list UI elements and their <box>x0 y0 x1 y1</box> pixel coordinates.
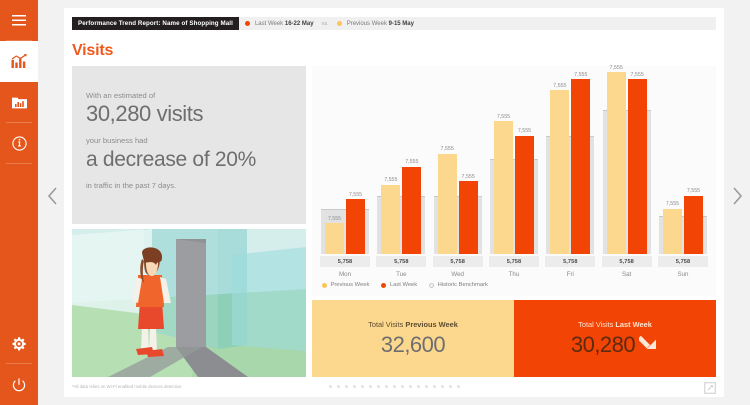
pagination-dot[interactable] <box>433 385 436 388</box>
power-icon <box>12 378 26 392</box>
bar-value-label: 7,555 <box>631 72 644 78</box>
bar-pw-fri[interactable]: 7,555 <box>550 90 569 254</box>
pagination-dot[interactable] <box>449 385 452 388</box>
pagination-dot[interactable] <box>401 385 404 388</box>
stage: Performance Trend Report: Name of Shoppi… <box>38 0 750 405</box>
bar-pw-sun[interactable]: 7,555 <box>663 209 682 255</box>
axis-cell-mon: 5,758Mon <box>320 256 370 278</box>
sidebar-spacer <box>0 164 38 323</box>
bar-lw-thu[interactable]: 7,555 <box>515 136 534 254</box>
legend-swatch-icon <box>429 283 434 288</box>
bar-pw-sat[interactable]: 7,555 <box>607 72 626 254</box>
hamburger-icon <box>12 15 26 26</box>
bar-pw-wed[interactable]: 7,555 <box>438 154 457 254</box>
axis-cell-sat: 5,758Sat <box>602 256 652 278</box>
expand-button[interactable] <box>704 381 716 399</box>
totals-row: Total Visits Previous Week 32,600 Total … <box>312 300 716 377</box>
chevron-left-icon <box>46 193 59 210</box>
sidebar-item-info[interactable] <box>0 123 38 164</box>
summary-line-5: in traffic in the past 7 days. <box>86 180 292 191</box>
bar-value-label: 7,555 <box>497 114 510 120</box>
bar-value-label: 7,555 <box>384 177 397 183</box>
bar-pair: 7,5557,555 <box>494 72 534 254</box>
sidebar-item-power[interactable] <box>0 364 38 405</box>
chart-group-wed: 7,5557,555 <box>433 72 483 254</box>
pagination-dots[interactable] <box>64 385 724 388</box>
benchmark-value: 5,758 <box>489 256 539 267</box>
benchmark-value: 5,758 <box>376 256 426 267</box>
sidebar-item-menu[interactable] <box>0 0 38 41</box>
bar-pw-tue[interactable]: 7,555 <box>381 185 400 254</box>
last-week-legend: Last Week 16-22 May <box>255 21 314 27</box>
benchmark-value: 5,758 <box>433 256 483 267</box>
axis-cell-thu: 5,758Thu <box>489 256 539 278</box>
bar-lw-sun[interactable]: 7,555 <box>684 196 703 254</box>
chevron-right-icon <box>731 193 744 210</box>
next-slide-button[interactable] <box>731 186 744 211</box>
benchmark-value: 5,758 <box>545 256 595 267</box>
legend-item-lw[interactable]: Last Week <box>381 282 417 288</box>
bar-lw-mon[interactable]: 7,555 <box>346 199 365 254</box>
report-title: Performance Trend Report: Name of Shoppi… <box>72 17 239 30</box>
pagination-dot[interactable] <box>417 385 420 388</box>
legend-swatch-icon <box>322 283 327 288</box>
pagination-dot[interactable] <box>369 385 372 388</box>
chart-axis-row: 5,758Mon5,758Tue5,758Wed5,758Thu5,758Fri… <box>320 256 708 278</box>
total-last-week-value: 30,280 <box>571 332 659 358</box>
legend-swatch-icon <box>381 283 386 288</box>
chart-group-thu: 7,5557,555 <box>489 72 539 254</box>
bar-pair: 7,5557,555 <box>381 72 421 254</box>
sidebar-item-trends[interactable] <box>0 41 38 82</box>
sidebar <box>0 0 38 405</box>
app-root: Performance Trend Report: Name of Shoppi… <box>0 0 750 405</box>
previous-week-dot-icon <box>337 21 342 26</box>
arrow-down-right-icon <box>639 332 659 358</box>
vs-label: vs. <box>322 21 329 27</box>
pagination-dot[interactable] <box>361 385 364 388</box>
report-slide: Performance Trend Report: Name of Shoppi… <box>64 8 724 397</box>
pagination-dot[interactable] <box>425 385 428 388</box>
folder-chart-icon <box>12 96 27 109</box>
bar-pair: 7,5557,555 <box>438 72 478 254</box>
pagination-dot[interactable] <box>409 385 412 388</box>
bar-value-label: 7,555 <box>441 146 454 152</box>
bar-pair: 7,5557,555 <box>325 72 365 254</box>
day-label: Tue <box>376 271 426 278</box>
bar-lw-sat[interactable]: 7,555 <box>628 79 647 254</box>
pagination-dot[interactable] <box>377 385 380 388</box>
day-label: Sat <box>602 271 652 278</box>
chart-group-sat: 7,5557,555 <box>602 72 652 254</box>
sidebar-item-reports[interactable] <box>0 82 38 123</box>
sidebar-item-settings[interactable] <box>0 323 38 364</box>
legend-item-pw[interactable]: Previous Week <box>322 282 369 288</box>
legend-label: Historic Benchmark <box>438 282 488 288</box>
bar-lw-tue[interactable]: 7,555 <box>402 167 421 254</box>
axis-cell-sun: 5,758Sun <box>658 256 708 278</box>
bar-pair: 7,5557,555 <box>663 72 703 254</box>
day-label: Mon <box>320 271 370 278</box>
chart-legend: Previous WeekLast WeekHistoric Benchmark <box>322 282 488 288</box>
chart-plot-area: 7,5557,5557,5557,5557,5557,5557,5557,555… <box>320 72 708 254</box>
bar-pw-mon[interactable]: 7,555 <box>325 223 344 254</box>
bar-pair: 7,5557,555 <box>550 72 590 254</box>
benchmark-value: 5,758 <box>658 256 708 267</box>
report-header-legend: Last Week 16-22 May vs. Previous Week 9-… <box>239 17 422 30</box>
benchmark-value: 5,758 <box>602 256 652 267</box>
info-circle-icon <box>12 136 27 151</box>
legend-label: Previous Week <box>331 282 370 288</box>
summary-line-3: your business had <box>86 135 292 146</box>
axis-cell-tue: 5,758Tue <box>376 256 426 278</box>
previous-week-legend: Previous Week 9-15 May <box>347 21 414 27</box>
illustration-woman-entering-door <box>72 229 306 377</box>
gear-icon <box>12 337 26 351</box>
chart-group-fri: 7,5557,555 <box>545 72 595 254</box>
total-last-week-caption: Total Visits Last Week <box>578 320 652 329</box>
total-last-week-card: Total Visits Last Week 30,280 <box>514 300 716 377</box>
benchmark-value: 5,758 <box>320 256 370 267</box>
bar-lw-fri[interactable]: 7,555 <box>571 79 590 254</box>
bar-value-label: 7,555 <box>349 192 362 198</box>
axis-cell-wed: 5,758Wed <box>433 256 483 278</box>
day-label: Sun <box>658 271 708 278</box>
day-label: Fri <box>545 271 595 278</box>
axis-cell-fri: 5,758Fri <box>545 256 595 278</box>
external-link-icon <box>704 381 716 398</box>
pagination-dot[interactable] <box>393 385 396 388</box>
bar-pw-thu[interactable]: 7,555 <box>494 121 513 254</box>
total-previous-week-caption: Total Visits Previous Week <box>368 320 458 329</box>
visits-bar-chart: 7,5557,5557,5557,5557,5557,5557,5557,555… <box>312 66 716 296</box>
chart-group-tue: 7,5557,555 <box>376 72 426 254</box>
chart-group-sun: 7,5557,555 <box>658 72 708 254</box>
bar-value-label: 7,555 <box>328 216 341 222</box>
pagination-dot[interactable] <box>457 385 460 388</box>
bar-value-label: 7,555 <box>518 128 531 134</box>
bar-value-label: 7,555 <box>666 201 679 207</box>
legend-label: Last Week <box>390 282 417 288</box>
bar-value-label: 7,555 <box>574 72 587 78</box>
total-previous-week-value: 32,600 <box>381 332 445 358</box>
day-label: Thu <box>489 271 539 278</box>
total-previous-week-card: Total Visits Previous Week 32,600 <box>312 300 514 377</box>
pagination-dot[interactable] <box>345 385 348 388</box>
summary-visits-value: 30,280 visits <box>86 101 292 127</box>
prev-slide-button[interactable] <box>46 186 59 211</box>
report-header: Performance Trend Report: Name of Shoppi… <box>72 17 422 30</box>
summary-change-value: a decrease of 20% <box>86 147 292 172</box>
pagination-dot[interactable] <box>329 385 332 388</box>
bar-value-label: 7,555 <box>462 174 475 180</box>
day-label: Wed <box>433 271 483 278</box>
bar-value-label: 7,555 <box>687 188 700 194</box>
bar-value-label: 7,555 <box>610 65 623 71</box>
bar-pair: 7,5557,555 <box>607 72 647 254</box>
last-week-dot-icon <box>245 21 250 26</box>
pagination-dot[interactable] <box>337 385 340 388</box>
pagination-dot[interactable] <box>353 385 356 388</box>
chart-group-mon: 7,5557,555 <box>320 72 370 254</box>
pagination-dot[interactable] <box>441 385 444 388</box>
page-title: Visits <box>72 42 113 60</box>
pagination-dot[interactable] <box>385 385 388 388</box>
chart-trend-icon <box>11 54 27 69</box>
summary-line-1: With an estimated of <box>86 90 292 101</box>
summary-panel: With an estimated of 30,280 visits your … <box>72 66 306 224</box>
bar-value-label: 7,555 <box>405 159 418 165</box>
bar-value-label: 7,555 <box>553 83 566 89</box>
legend-item-hb[interactable]: Historic Benchmark <box>429 282 488 288</box>
bar-lw-wed[interactable]: 7,555 <box>459 181 478 254</box>
